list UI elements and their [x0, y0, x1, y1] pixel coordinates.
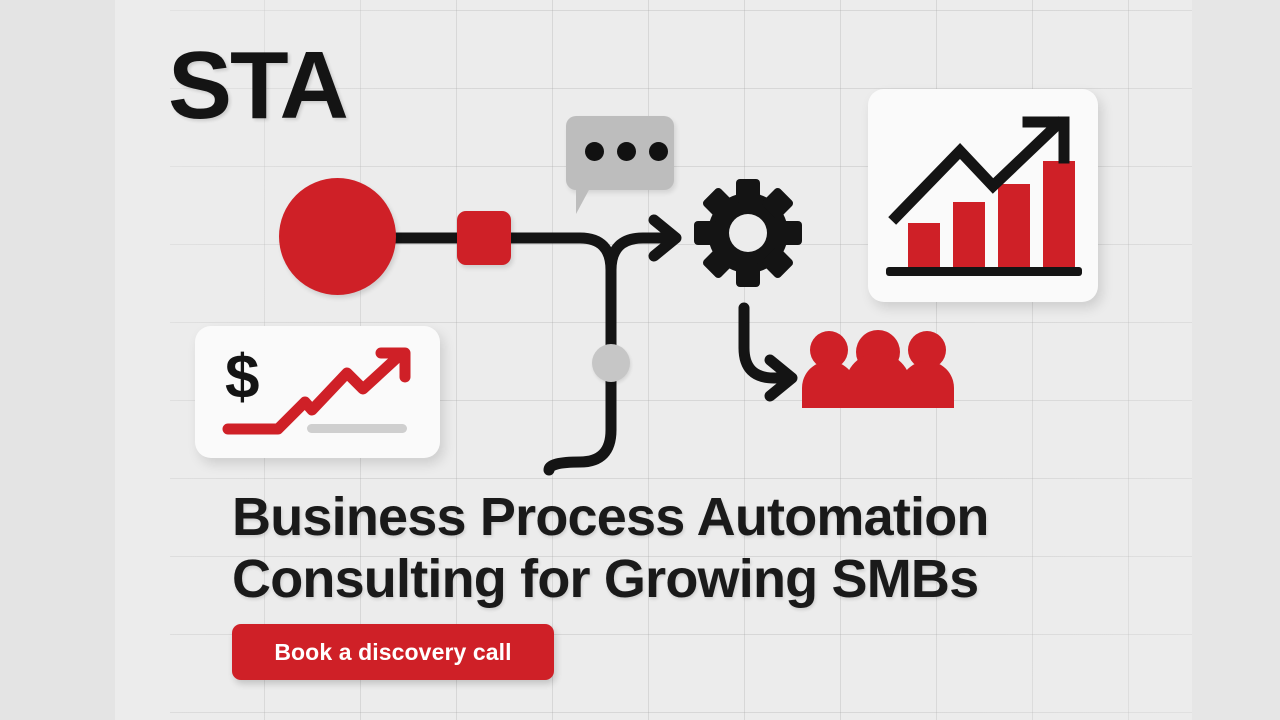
headline-line-1: Business Process Automation [232, 487, 1072, 549]
person-center-body [845, 353, 911, 408]
people-icon[interactable] [798, 330, 958, 408]
page-title: Business Process Automation Consulting f… [232, 487, 1072, 610]
chart-bar-4 [1043, 161, 1075, 267]
gear-icon[interactable] [692, 177, 804, 289]
chart-bar-1 [908, 223, 940, 267]
growth-chart-card [868, 89, 1098, 302]
chat-dot-3 [649, 142, 668, 161]
chat-dot-1 [585, 142, 604, 161]
chat-dot-2 [617, 142, 636, 161]
chat-bubble-dots [585, 142, 668, 161]
book-discovery-call-button[interactable]: Book a discovery call [232, 624, 554, 680]
chart-bar-3 [998, 184, 1030, 267]
chart-baseline [886, 267, 1082, 276]
dollar-sign-icon: $ [225, 343, 259, 412]
task-node[interactable] [457, 211, 511, 265]
chat-bubble-icon [566, 116, 674, 190]
revenue-card: $ [195, 326, 440, 458]
chart-bar-2 [953, 202, 985, 267]
start-node[interactable] [279, 178, 396, 295]
headline-line-2: Consulting for Growing SMBs [232, 549, 1072, 611]
hero-banner: STA [0, 0, 1280, 720]
chat-bubble-tail [576, 188, 590, 214]
revenue-placeholder-bar [307, 424, 407, 433]
junction-node[interactable] [592, 344, 630, 382]
